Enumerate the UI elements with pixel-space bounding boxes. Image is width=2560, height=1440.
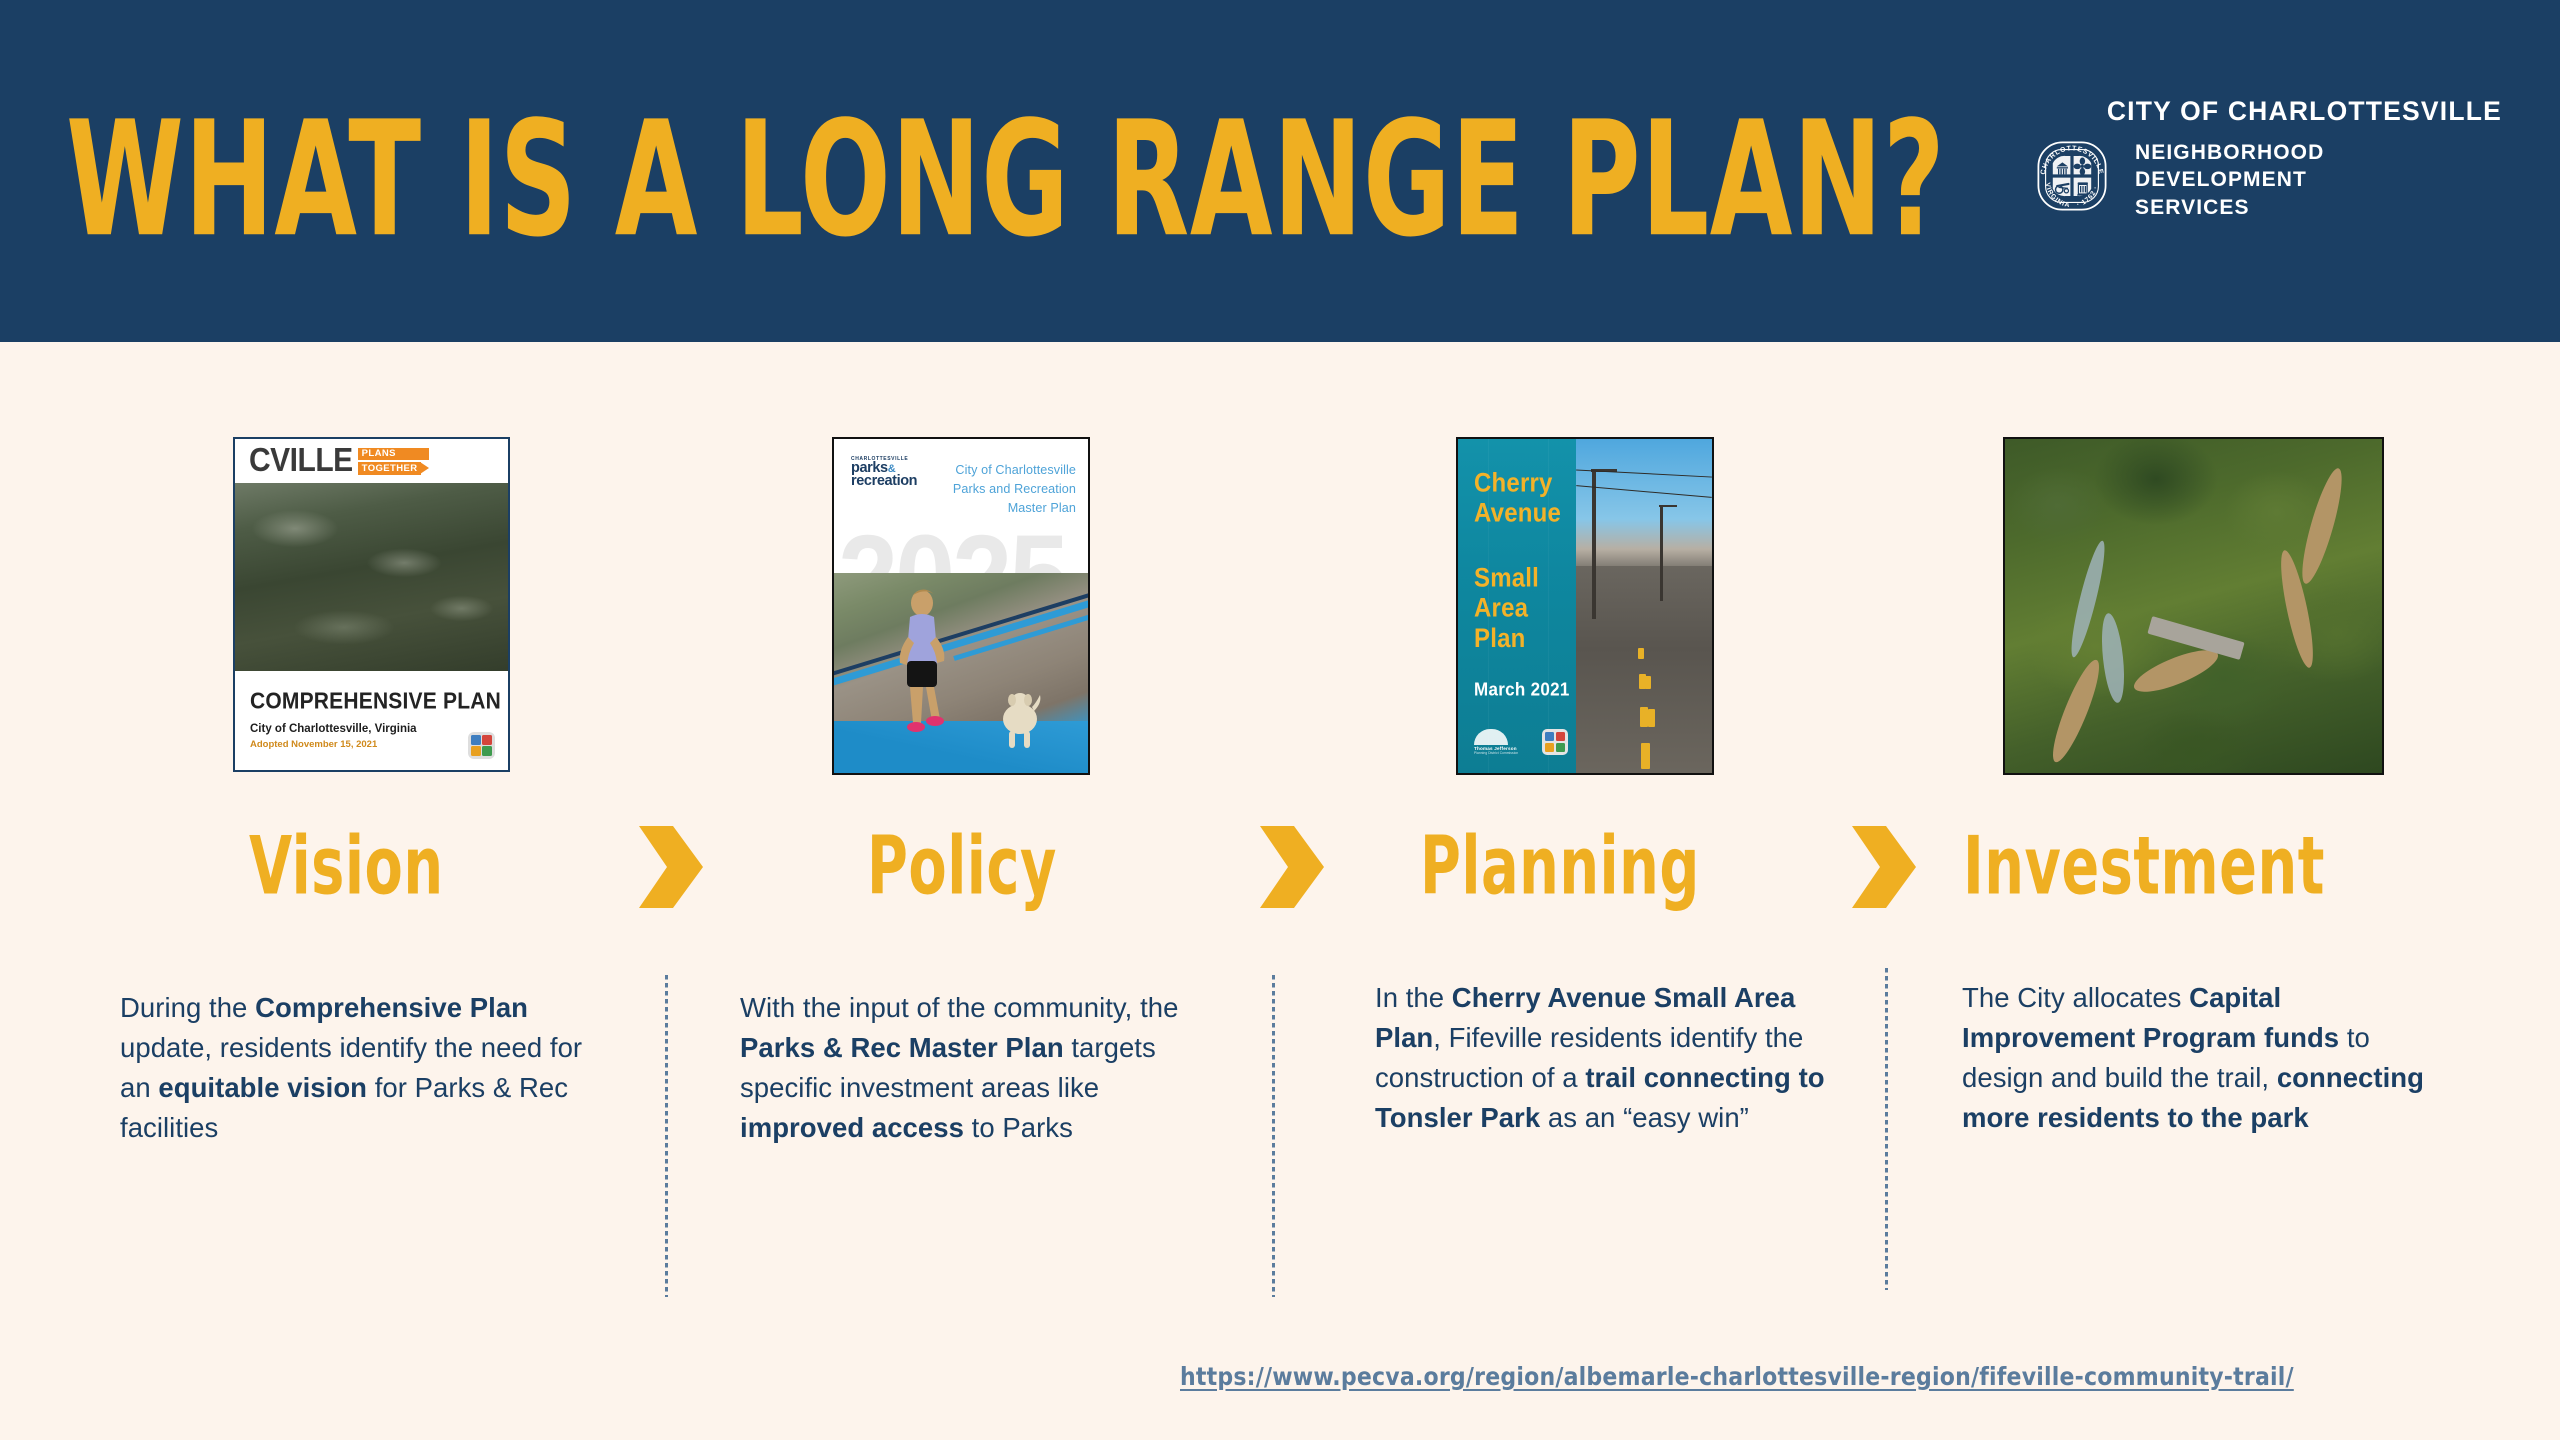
cherry-avenue-title-top: Cherry Avenue xyxy=(1474,469,1561,529)
thumbnail-comprehensive-plan: CVILLE PLANS TOGETHER COMPREHENSIVE PLAN… xyxy=(233,437,510,772)
cville-tag-together: TOGETHER xyxy=(358,462,422,475)
column-divider xyxy=(1885,968,1888,1290)
thumbnail-parks-rec-master-plan: 2025 CHARLOTTESVILLE parks& recreation C… xyxy=(832,437,1090,775)
runner-figure-icon xyxy=(886,587,958,755)
department-line-1: NEIGHBORHOOD xyxy=(2135,139,2324,166)
parks-rec-title: City of Charlottesville Parks and Recrea… xyxy=(953,461,1076,518)
street-roadway xyxy=(1576,566,1712,773)
stage-label-planning: Planning xyxy=(1420,818,1700,913)
runner-with-dog-photo xyxy=(834,573,1088,773)
city-seal-icon: CHARLOTTESVILLE · VIRGINIA · · 1762 · xyxy=(2032,136,2112,216)
forest-trail-aerial-photo xyxy=(2005,439,2382,773)
department-line-3: SERVICES xyxy=(2135,194,2324,221)
cherry-avenue-date: March 2021 xyxy=(1474,679,1570,701)
parks-rec-logo: CHARLOTTESVILLE parks& recreation xyxy=(851,456,923,489)
cherry-title-line-3: Small Area xyxy=(1474,564,1576,624)
cherry-avenue-street-photo xyxy=(1576,439,1712,773)
parks-rec-title-line-2: Parks and Recreation xyxy=(953,480,1076,499)
comprehensive-plan-adopted-date: Adopted November 15, 2021 xyxy=(250,739,377,750)
dog-figure-icon xyxy=(992,689,1048,751)
parks-rec-logo-line-2: recreation xyxy=(851,475,923,488)
aerial-city-photo xyxy=(235,483,508,673)
chevron-right-icon xyxy=(637,826,705,908)
comprehensive-plan-title: COMPREHENSIVE PLAN xyxy=(250,689,501,715)
city-logo-lockup: CITY OF CHARLOTTESVILLE xyxy=(2032,96,2502,226)
cherry-avenue-logos: Thomas Jefferson Planning District Commi… xyxy=(1474,729,1568,756)
stage-description-policy: With the input of the community, the Par… xyxy=(740,988,1192,1148)
cherry-title-line-1: Cherry xyxy=(1474,469,1561,499)
thumbnail-cherry-avenue-plan: Cherry Avenue Small Area Plan March 2021… xyxy=(1456,437,1714,775)
stage-label-investment: Investment xyxy=(1963,818,2325,913)
city-quad-logo-icon xyxy=(1542,729,1568,755)
tjpdc-line-2: Planning District Commission xyxy=(1474,751,1532,755)
cville-tag-plans: PLANS xyxy=(358,448,430,461)
city-name-label: CITY OF CHARLOTTESVILLE xyxy=(2107,96,2502,127)
cville-wordmark: CVILLE xyxy=(249,442,353,479)
city-quad-logo-icon xyxy=(468,732,495,759)
tjpdc-logo: Thomas Jefferson Planning District Commi… xyxy=(1474,729,1532,756)
stage-label-vision: Vision xyxy=(249,818,444,913)
parks-rec-cover: 2025 CHARLOTTESVILLE parks& recreation C… xyxy=(834,439,1088,773)
parks-rec-title-line-3: Master Plan xyxy=(953,499,1076,518)
arrow-right-icon xyxy=(420,462,429,474)
cherry-title-line-2: Avenue xyxy=(1474,499,1561,529)
comprehensive-plan-subtitle: City of Charlottesville, Virginia xyxy=(250,723,417,735)
tjpdc-arc-icon xyxy=(1474,729,1508,745)
cherry-title-line-4: Plan xyxy=(1474,624,1576,654)
chevron-right-icon xyxy=(1850,826,1918,908)
parks-rec-title-line-1: City of Charlottesville xyxy=(953,461,1076,480)
page-title: WHAT IS A LONG RANGE PLAN? xyxy=(66,88,1945,273)
cherry-avenue-title-bottom: Small Area Plan xyxy=(1474,564,1576,654)
department-name-label: NEIGHBORHOOD DEVELOPMENT SERVICES xyxy=(2135,136,2324,221)
stage-label-policy: Policy xyxy=(867,818,1057,913)
stage-description-planning: In the Cherry Avenue Small Area Plan, Fi… xyxy=(1375,978,1825,1138)
column-divider xyxy=(1272,975,1275,1297)
thumbnail-fifeville-trail-photo xyxy=(2003,437,2384,775)
column-divider xyxy=(665,975,668,1297)
cherry-avenue-title-panel: Cherry Avenue Small Area Plan March 2021… xyxy=(1458,439,1576,773)
source-url-link[interactable]: https://www.pecva.org/region/albemarle-c… xyxy=(1180,1362,2294,1391)
comprehensive-plan-caption: COMPREHENSIVE PLAN City of Charlottesvil… xyxy=(235,671,508,770)
department-line-2: DEVELOPMENT xyxy=(2135,166,2324,193)
chevron-right-icon xyxy=(1258,826,1326,908)
cville-plans-together-logo: CVILLE PLANS TOGETHER xyxy=(235,439,508,483)
stage-description-vision: During the Comprehensive Plan update, re… xyxy=(120,988,615,1148)
stage-description-investment: The City allocates Capital Improvement P… xyxy=(1962,978,2437,1138)
